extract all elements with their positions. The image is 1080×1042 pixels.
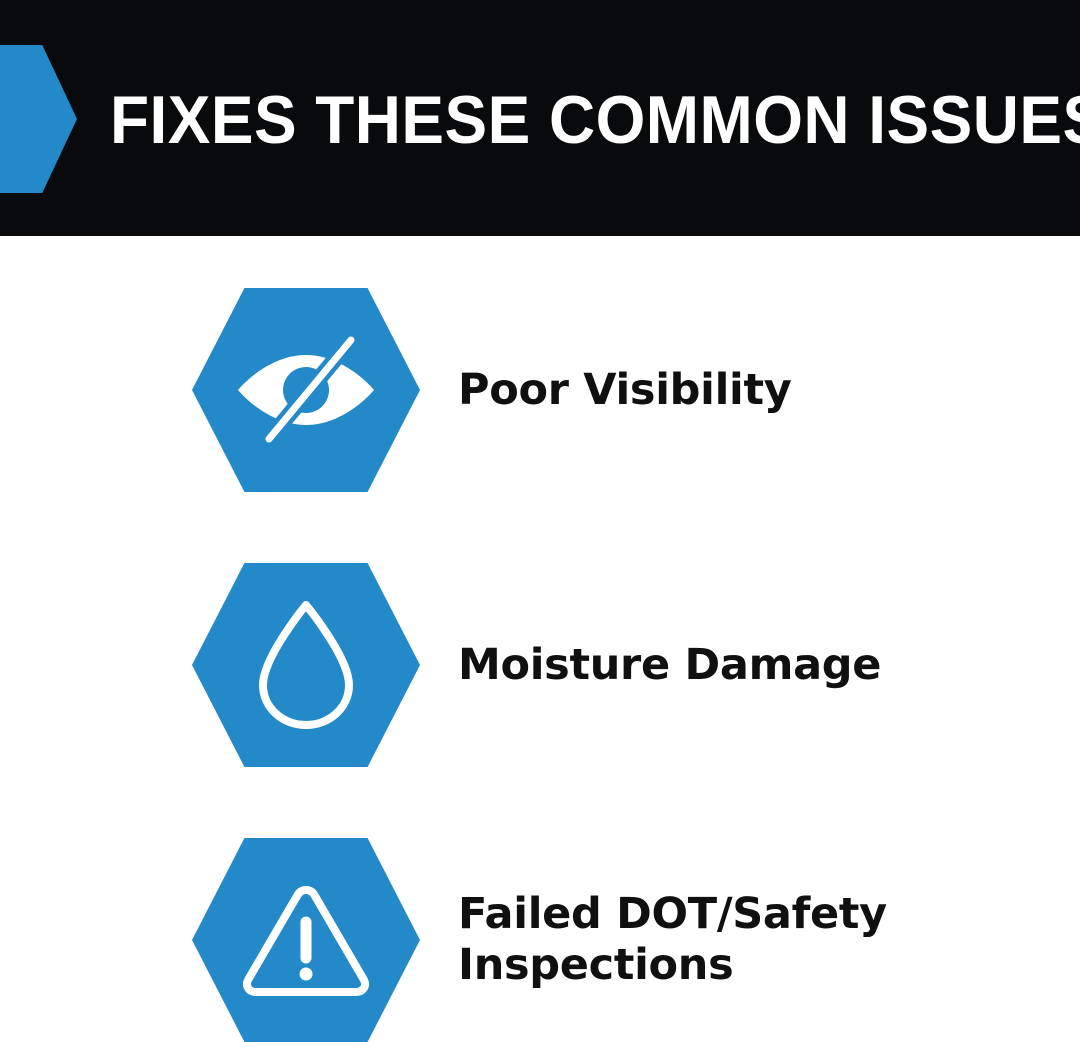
warning-triangle-icon (240, 882, 372, 998)
issue-label-line: Failed DOT/Safety (458, 889, 887, 940)
water-droplet-icon (251, 595, 361, 735)
issue-label: Moisture Damage (458, 640, 881, 691)
issue-icon-badge (192, 288, 420, 492)
list-item: Moisture Damage (0, 563, 1080, 767)
issue-label-line: Inspections (458, 940, 887, 991)
page-title: FIXES THESE COMMON ISSUES (110, 83, 956, 157)
list-item: Poor Visibility (0, 288, 1080, 492)
eye-slash-icon (231, 335, 381, 445)
list-item: Failed DOT/Safety Inspections (0, 838, 1080, 1042)
issue-label-line: Moisture Damage (458, 640, 881, 691)
hexagon-arrow-marker-icon (0, 45, 77, 193)
issue-list: Poor Visibility Moisture Damage Failed D… (0, 236, 1080, 1041)
issue-icon-badge (192, 563, 420, 767)
issue-label: Poor Visibility (458, 365, 791, 416)
issue-label: Failed DOT/Safety Inspections (458, 889, 887, 991)
issue-label-line: Poor Visibility (458, 365, 791, 416)
header-bar: FIXES THESE COMMON ISSUES (0, 0, 1080, 236)
issue-icon-badge (192, 838, 420, 1042)
